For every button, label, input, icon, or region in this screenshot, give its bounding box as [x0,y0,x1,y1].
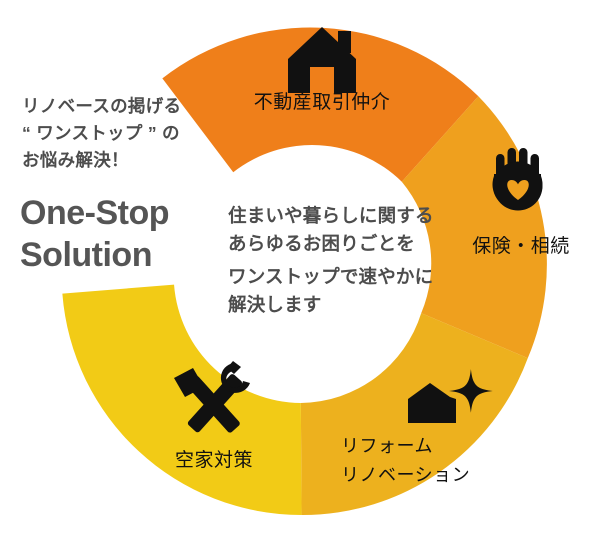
slice-label-renovation-line1: リフォーム [341,436,433,456]
slice-label-renovation-line2: リノベーション [341,465,470,485]
center-paragraph-2-line-2: 解決します [228,294,322,315]
lead-line-1: リノベースの掲げる [22,96,181,116]
slice-label-insurance: 保険・相続 [472,235,570,257]
one-stop-solution-infographic: 不動産取引仲介 保険・相続 リ [0,0,600,533]
slice-label-vacant-house: 空家対策 [175,449,253,471]
headline-line-1: One-Stop [20,194,169,232]
center-paragraph-1-line-2: あらゆるお困りごとを [228,233,415,254]
slice-label-real-estate: 不動産取引仲介 [254,91,391,113]
center-paragraph-1-line-1: 住まいや暮らしに関する [228,205,434,226]
center-paragraph-2-line-1: ワンストップで速やかに [228,266,433,287]
lead-line-2: “ ワンストップ ” の [22,123,180,143]
headline-line-2: Solution [20,236,152,274]
lead-line-3: お悩み解決！ [22,150,129,170]
